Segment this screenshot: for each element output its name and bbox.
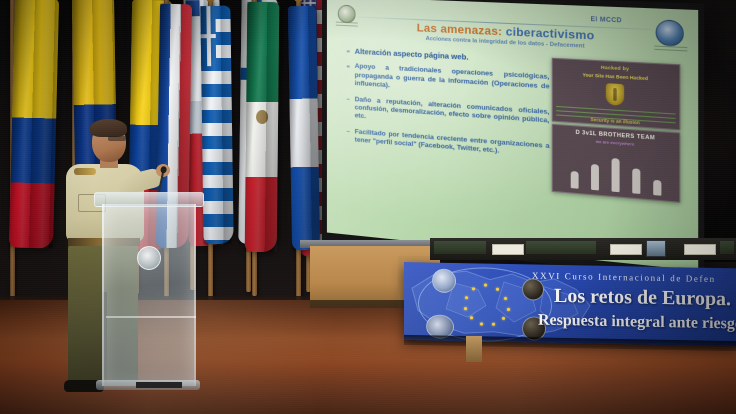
head-table: [430, 238, 736, 260]
slide-bullet-list: Alteración aspecto página web. Apoyo a t…: [344, 47, 550, 168]
figure-silhouette: [611, 158, 619, 192]
name-placard: [610, 244, 642, 255]
screen-surface: El MCCD Las amenazas: ciberactivismo Acc…: [327, 0, 698, 271]
figure-silhouette: [590, 164, 598, 190]
table-item: [526, 241, 596, 254]
lectern-nameplate: [136, 382, 182, 388]
defacement-crest-icon: [606, 83, 624, 106]
presenter-monitor: [646, 240, 666, 257]
rank-insignia: [74, 168, 96, 175]
name-placard: [492, 244, 524, 255]
name-placard: [684, 244, 716, 255]
figure-silhouette: [632, 168, 640, 194]
figure-silhouette: [653, 180, 661, 196]
lectern-emblem-icon: [137, 246, 161, 270]
photo-scene: El MCCD Las amenazas: ciberactivismo Acc…: [0, 0, 736, 414]
defaced-website-screenshot-bottom: D 3v1L BROTHERS TEAM we are everywhere: [552, 124, 681, 203]
conference-banner: XXVI Curso Internacional de Defen Los re…: [404, 262, 736, 346]
lectern-seam: [106, 316, 196, 318]
slide-header: El MCCD: [591, 17, 622, 25]
figure-silhouettes: [564, 151, 667, 196]
table-item: [720, 241, 734, 254]
banner-lighting: [404, 262, 736, 346]
presentation-slide: El MCCD Las amenazas: ciberactivismo Acc…: [327, 0, 698, 271]
speaker-hair: [90, 119, 127, 137]
banner-support-post: [466, 336, 482, 362]
defaced-website-screenshot-top: Hacked by Your Site Has Been Hacked Secu…: [552, 58, 681, 131]
table-item: [434, 241, 486, 254]
figure-silhouette: [570, 171, 578, 189]
slide-bullet: Apoyo a tradicionales operaciones psicol…: [344, 63, 550, 101]
lectern: [100, 192, 196, 392]
glasses-icon: [108, 136, 126, 141]
lectern-body: [102, 204, 196, 386]
